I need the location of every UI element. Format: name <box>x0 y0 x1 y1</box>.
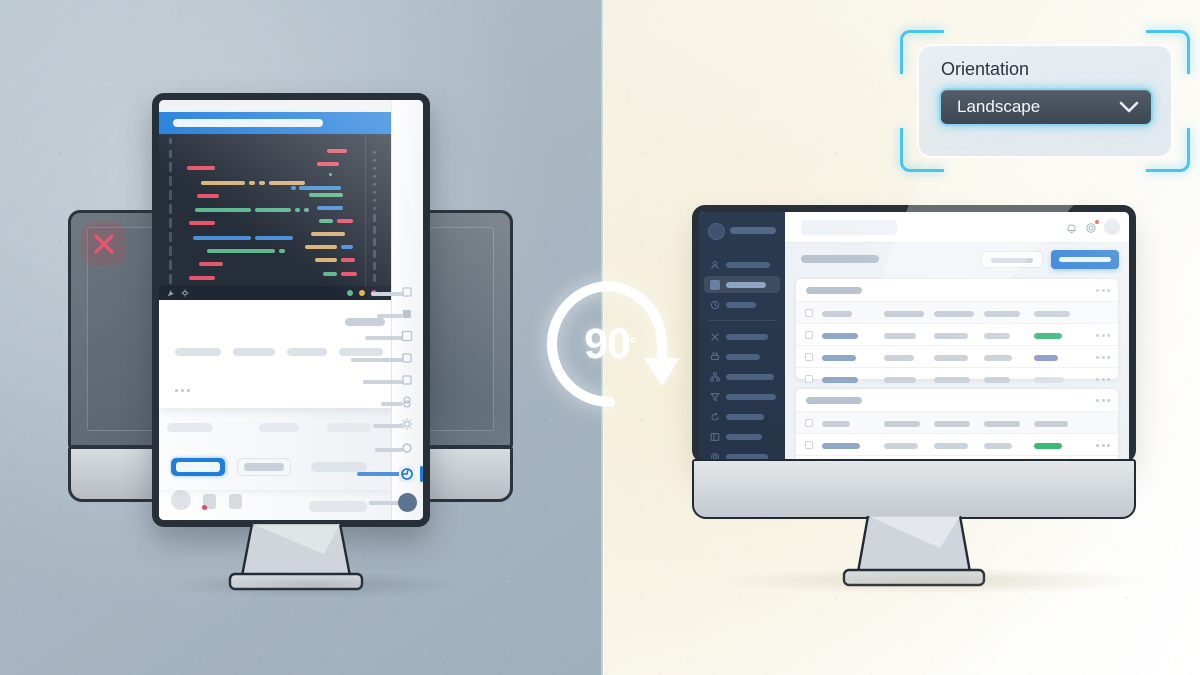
taskbar-bar-active <box>357 472 403 476</box>
sidebar-item-label <box>726 262 770 268</box>
table-card-header <box>796 389 1118 411</box>
page-title <box>801 255 879 263</box>
taskbar-app[interactable] <box>399 372 415 388</box>
content-line <box>287 348 327 356</box>
more-options-icon[interactable] <box>1096 334 1110 337</box>
volume-icon[interactable] <box>229 494 242 509</box>
nav-item[interactable] <box>311 462 367 472</box>
sidebar-item-dashboard[interactable] <box>704 276 780 293</box>
table-row <box>796 411 1118 433</box>
content-line <box>339 348 383 356</box>
orientation-selected-value: Landscape <box>957 97 1040 117</box>
sidebar-divider <box>709 320 775 321</box>
more-options-icon[interactable] <box>1096 378 1110 381</box>
table-row[interactable] <box>796 433 1118 455</box>
taskbar-app[interactable] <box>399 440 415 456</box>
taskbar-bar <box>365 336 403 340</box>
search-input[interactable] <box>801 220 897 235</box>
taskbar-app[interactable] <box>399 394 415 410</box>
window-icon <box>399 350 415 366</box>
window-icon <box>399 372 415 388</box>
row-checkbox[interactable] <box>805 309 813 317</box>
table-row[interactable] <box>796 345 1118 367</box>
row-checkbox[interactable] <box>805 331 813 339</box>
table-caption <box>806 287 862 294</box>
window-filled-icon <box>399 306 415 322</box>
content-line <box>345 318 385 326</box>
table-caption <box>806 397 862 404</box>
sidebar-item-structure[interactable] <box>704 368 780 385</box>
orientation-error-badge <box>82 222 126 266</box>
sidebar-item-printers[interactable] <box>704 348 780 365</box>
user-icon <box>710 260 720 270</box>
landscape-monitor <box>692 205 1136 520</box>
taskbar-app[interactable] <box>399 284 415 300</box>
table-row[interactable] <box>796 323 1118 345</box>
bell-icon[interactable] <box>1066 222 1077 234</box>
landscape-monitor-shadow <box>720 568 1150 594</box>
secondary-button[interactable] <box>981 251 1043 268</box>
sidebar-item-label <box>726 354 760 360</box>
status-dot-warn <box>359 290 365 296</box>
sidebar-item-users[interactable] <box>704 256 780 273</box>
app-active-icon <box>399 466 415 482</box>
taskbar-app[interactable] <box>399 306 415 322</box>
settings-icon <box>399 416 415 432</box>
rotation-badge: 90° <box>536 270 684 418</box>
sitemap-icon <box>710 372 720 382</box>
taskbar-app[interactable] <box>399 328 415 344</box>
filter-icon <box>710 392 720 402</box>
avatar[interactable] <box>1104 219 1120 235</box>
sidebar-item-label <box>726 282 766 288</box>
taskbar-bar <box>363 380 403 384</box>
table-card-header <box>796 279 1118 301</box>
dashboard-topbar <box>785 212 1129 243</box>
chart-window <box>159 112 391 300</box>
close-x-icon <box>91 231 117 257</box>
sidebar-item-label <box>726 434 762 440</box>
window-icon <box>399 284 415 300</box>
portrait-monitor-shadow <box>170 572 460 598</box>
portrait-monitor <box>152 93 430 527</box>
circle-icon <box>399 440 415 456</box>
degree-symbol: ° <box>630 334 636 354</box>
more-options-icon[interactable] <box>1096 289 1110 292</box>
table-row[interactable] <box>796 367 1118 389</box>
foreground-window <box>159 300 391 408</box>
sidebar-item-sync[interactable] <box>704 408 780 425</box>
nav-item-selected[interactable] <box>171 458 225 476</box>
status-badge <box>1034 355 1058 361</box>
chart-bottom-ticks <box>373 134 376 286</box>
primary-button[interactable] <box>1051 250 1119 269</box>
more-options-icon[interactable] <box>1096 444 1110 447</box>
taskbar-app[interactable] <box>399 416 415 432</box>
settings-icon[interactable] <box>181 289 189 297</box>
notification-badge <box>202 505 207 510</box>
content-line <box>175 348 221 356</box>
tools-icon <box>710 332 720 342</box>
sidebar-item-label <box>726 394 776 400</box>
rotation-value: 90 <box>584 320 630 369</box>
desktop-taskbar <box>391 100 423 520</box>
sidebar-item-activity[interactable] <box>704 296 780 313</box>
nav-placeholder <box>309 501 367 512</box>
row-checkbox[interactable] <box>805 419 813 427</box>
sidebar-item-filters[interactable] <box>704 388 780 405</box>
avatar[interactable] <box>708 223 725 240</box>
refresh-icon <box>710 412 720 422</box>
list-item <box>327 423 371 432</box>
settings-badge <box>1095 220 1099 224</box>
status-badge <box>1034 377 1064 383</box>
nav-item[interactable] <box>237 458 291 476</box>
link-icon <box>399 394 415 410</box>
sidebar-user-name <box>730 227 776 234</box>
chart-scrollbar[interactable] <box>159 112 391 134</box>
sidebar-item-tools[interactable] <box>704 328 780 345</box>
chevron-down-icon <box>1119 101 1139 114</box>
chart-top-ticks <box>169 134 172 286</box>
sidebar-item-label <box>726 302 756 308</box>
status-dot-ok <box>347 290 353 296</box>
row-checkbox[interactable] <box>805 441 813 449</box>
chart-plot-area <box>159 134 391 286</box>
avatar <box>171 490 191 510</box>
more-options-icon[interactable] <box>1096 399 1110 402</box>
taskbar-bar <box>351 358 403 362</box>
dashboard-icon <box>710 280 720 290</box>
start-orb-icon[interactable] <box>398 493 417 512</box>
sidebar-item-label <box>726 414 764 420</box>
sidebar-item-label <box>726 374 774 380</box>
sidebar-item-label <box>726 334 768 340</box>
orientation-label: Orientation <box>941 59 1029 80</box>
row-checkbox[interactable] <box>805 353 813 361</box>
orientation-select[interactable]: Landscape <box>939 88 1153 126</box>
status-badge <box>1034 333 1062 339</box>
taskbar-app-active[interactable] <box>399 466 415 482</box>
window-icon <box>399 328 415 344</box>
chart-toolbar-rail <box>159 286 391 300</box>
sidebar-item-layout[interactable] <box>704 428 780 445</box>
rotation-degrees: 90° <box>536 270 684 418</box>
printer-icon <box>710 352 720 362</box>
table-card <box>795 278 1119 380</box>
more-options-icon[interactable] <box>1096 356 1110 359</box>
clock-icon <box>710 300 720 310</box>
table-row <box>796 301 1118 323</box>
dashboard-toolbar <box>785 243 1129 275</box>
landscape-monitor-chin <box>692 459 1136 519</box>
orientation-panel: Orientation Landscape <box>900 30 1190 172</box>
layout-icon <box>710 432 720 442</box>
status-badge <box>1034 443 1062 449</box>
row-checkbox[interactable] <box>805 375 813 383</box>
rotated-desktop-body <box>159 100 391 520</box>
cursor-icon[interactable] <box>167 289 175 297</box>
rotated-desktop <box>159 100 423 520</box>
taskbar-active-indicator <box>420 466 423 482</box>
list-item <box>259 423 299 432</box>
taskbar-app[interactable] <box>399 350 415 366</box>
illustration-stage: 90° <box>0 0 1200 675</box>
portrait-monitor-screen <box>159 100 423 520</box>
orientation-card: Orientation Landscape <box>917 44 1173 158</box>
list-item <box>167 423 213 432</box>
content-line <box>233 348 275 356</box>
